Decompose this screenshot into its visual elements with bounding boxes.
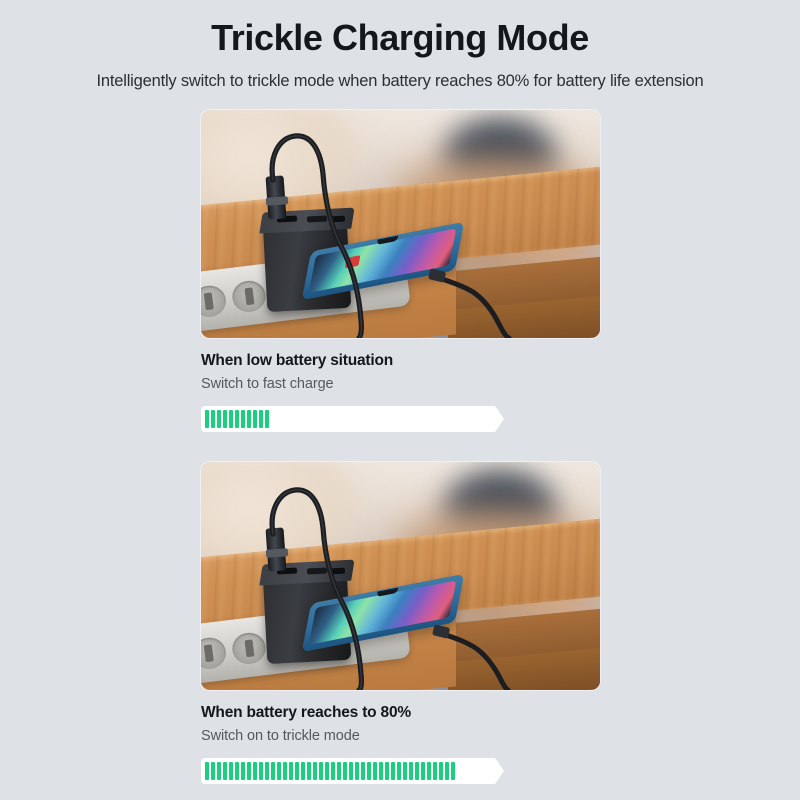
battery-segment: [235, 410, 239, 428]
feature-block: When battery reaches to 80% Switch on to…: [201, 462, 600, 784]
battery-segment: [445, 762, 449, 780]
page-subtitle: Intelligently switch to trickle mode whe…: [0, 70, 800, 92]
battery-segment: [385, 762, 389, 780]
battery-segment: [301, 762, 305, 780]
caption-title: When low battery situation: [201, 351, 600, 371]
battery-segment: [283, 762, 287, 780]
charging-cables: [201, 110, 600, 338]
feature-block: When low battery situation Switch to fas…: [201, 110, 600, 432]
battery-segment: [217, 762, 221, 780]
battery-segment: [229, 410, 233, 428]
battery-segment: [223, 762, 227, 780]
battery-segment: [205, 410, 209, 428]
battery-segment: [211, 762, 215, 780]
battery-segment: [409, 762, 413, 780]
battery-segment: [331, 762, 335, 780]
battery-tip: [484, 406, 504, 432]
battery-segment: [271, 762, 275, 780]
battery-segment: [451, 762, 455, 780]
battery-segment: [361, 762, 365, 780]
battery-segment: [217, 410, 221, 428]
battery-segment: [421, 762, 425, 780]
caption-title: When battery reaches to 80%: [201, 703, 600, 723]
battery-segment: [391, 762, 395, 780]
battery-segment: [343, 762, 347, 780]
battery-segment: [247, 410, 251, 428]
battery-segment: [259, 762, 263, 780]
battery-segment: [211, 410, 215, 428]
product-photo-low-battery: [201, 110, 600, 338]
battery-segment: [295, 762, 299, 780]
battery-segment: [205, 762, 209, 780]
page-title: Trickle Charging Mode: [0, 16, 800, 60]
battery-segment: [337, 762, 341, 780]
charging-cables: [201, 462, 600, 690]
battery-segment: [253, 410, 257, 428]
battery-segment: [247, 762, 251, 780]
battery-segment: [241, 762, 245, 780]
battery-segment: [235, 762, 239, 780]
battery-indicator: [201, 758, 504, 784]
battery-segment: [397, 762, 401, 780]
battery-segment: [259, 410, 263, 428]
battery-segment: [229, 762, 233, 780]
battery-segment: [289, 762, 293, 780]
battery-tip: [484, 758, 504, 784]
battery-segment: [307, 762, 311, 780]
caption-subtitle: Switch on to trickle mode: [201, 727, 600, 746]
battery-segment: [367, 762, 371, 780]
product-photo-80-percent: [201, 462, 600, 690]
product-feature-page: Trickle Charging Mode Intelligently swit…: [0, 0, 800, 800]
battery-segment: [277, 762, 281, 780]
battery-segment: [313, 762, 317, 780]
battery-segment: [265, 410, 269, 428]
battery-indicator: [201, 406, 504, 432]
battery-segment: [223, 410, 227, 428]
battery-segment: [379, 762, 383, 780]
battery-segment: [415, 762, 419, 780]
battery-segment: [433, 762, 437, 780]
battery-segment: [349, 762, 353, 780]
battery-segment: [355, 762, 359, 780]
battery-segment: [427, 762, 431, 780]
battery-segment: [439, 762, 443, 780]
battery-segment: [373, 762, 377, 780]
battery-segment: [403, 762, 407, 780]
battery-segment: [325, 762, 329, 780]
battery-fill: [205, 762, 455, 780]
battery-segment: [241, 410, 245, 428]
battery-segment: [265, 762, 269, 780]
caption-subtitle: Switch to fast charge: [201, 375, 600, 394]
battery-segment: [253, 762, 257, 780]
battery-segment: [319, 762, 323, 780]
battery-fill: [205, 410, 269, 428]
